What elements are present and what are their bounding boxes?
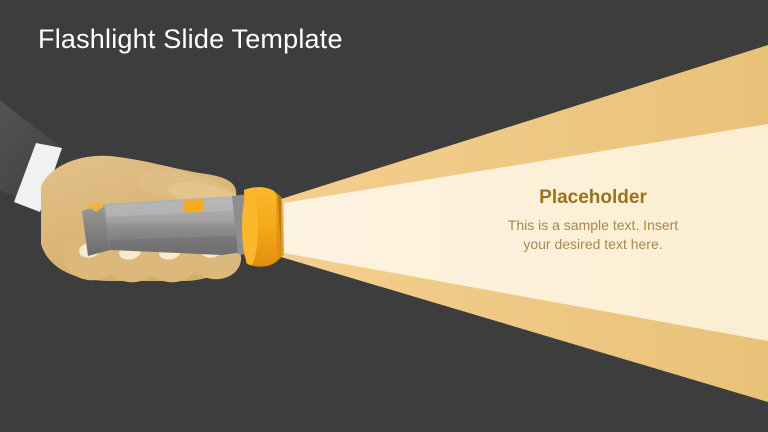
placeholder-heading[interactable]: Placeholder [493, 186, 693, 210]
page-title: Flashlight Slide Template [38, 24, 343, 55]
placeholder-body-text[interactable]: This is a sample text. Insert your desir… [493, 216, 693, 254]
flashlight-head-rim [242, 189, 258, 265]
flashlight-button[interactable] [183, 199, 205, 212]
text-placeholder-block[interactable]: Placeholder This is a sample text. Inser… [493, 186, 693, 254]
slide-canvas: Flashlight Slide Template Placeholder Th… [0, 0, 768, 432]
